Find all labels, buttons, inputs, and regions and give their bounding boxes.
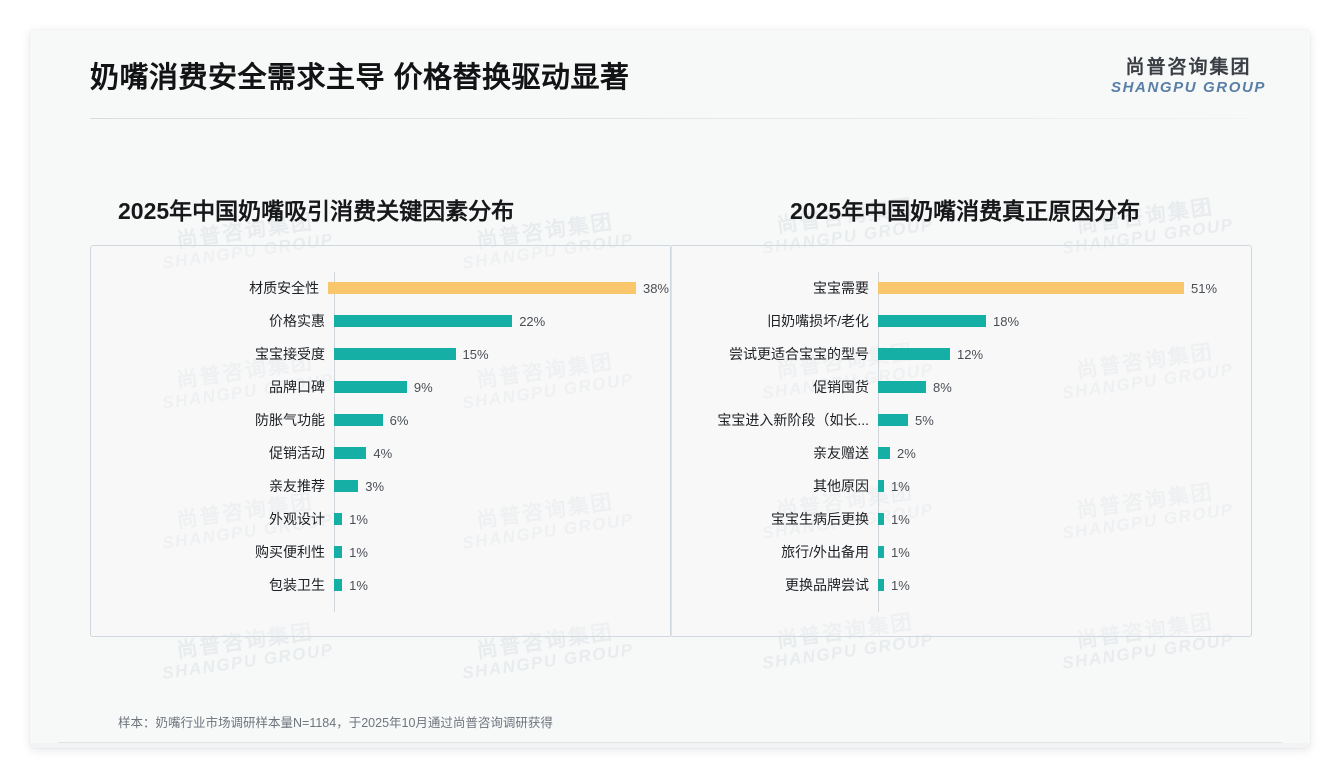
- chart-bar-track: 12%: [878, 342, 1249, 366]
- chart-bar-row[interactable]: 品牌口碑9%: [91, 375, 669, 399]
- chart-bar-track: 4%: [334, 441, 669, 465]
- chart-bar-row[interactable]: 其他原因1%: [671, 474, 1249, 498]
- chart-bar-row[interactable]: 包装卫生1%: [91, 573, 669, 597]
- chart-category-label: 购买便利性: [91, 542, 334, 562]
- watermark-english-text: SHANGPU GROUP: [761, 631, 935, 674]
- chart-bar-track: 51%: [878, 276, 1249, 300]
- chart-bar: [878, 579, 884, 591]
- logo-english-text: SHANGPU GROUP: [1111, 80, 1266, 96]
- chart-bar-row[interactable]: 防胀气功能6%: [91, 408, 669, 432]
- chart-value-label: 12%: [957, 347, 983, 362]
- chart-value-label: 5%: [915, 413, 934, 428]
- chart-category-label: 亲友赠送: [671, 443, 878, 463]
- logo-chinese-text: 尚普咨询集团: [1111, 58, 1266, 78]
- chart-bar-row[interactable]: 材质安全性38%: [91, 276, 669, 300]
- chart-bar: [878, 546, 884, 558]
- slide-header: 奶嘴消费安全需求主导 价格替换驱动显著 尚普咨询集团 SHANGPU GROUP: [30, 30, 1310, 118]
- chart-value-label: 1%: [891, 479, 910, 494]
- chart-bar-row[interactable]: 旧奶嘴损坏/老化18%: [671, 309, 1249, 333]
- chart-value-label: 3%: [365, 479, 384, 494]
- chart-bar-row[interactable]: 促销囤货8%: [671, 375, 1249, 399]
- chart-bar-row[interactable]: 外观设计1%: [91, 507, 669, 531]
- chart-value-label: 1%: [891, 545, 910, 560]
- chart-value-label: 9%: [414, 380, 433, 395]
- chart-bar: [328, 282, 636, 294]
- chart-category-label: 宝宝生病后更换: [671, 509, 878, 529]
- chart-category-label: 价格实惠: [91, 311, 334, 331]
- chart-bar: [878, 348, 950, 360]
- chart-bar-track: 9%: [334, 375, 669, 399]
- chart-value-label: 2%: [897, 446, 916, 461]
- chart-bar-row[interactable]: 旅行/外出备用1%: [671, 540, 1249, 564]
- brand-logo: 尚普咨询集团 SHANGPU GROUP: [1111, 58, 1266, 96]
- chart-value-label: 4%: [373, 446, 392, 461]
- chart-category-label: 亲友推荐: [91, 476, 334, 496]
- chart-bar-track: 1%: [334, 540, 669, 564]
- chart-bar: [334, 513, 342, 525]
- chart-bar-row[interactable]: 价格实惠22%: [91, 309, 669, 333]
- chart-value-label: 15%: [463, 347, 489, 362]
- chart-bar: [878, 282, 1184, 294]
- chart-category-label: 外观设计: [91, 509, 334, 529]
- chart-bar: [878, 447, 890, 459]
- chart-bar: [334, 447, 366, 459]
- chart-bar-track: 22%: [334, 309, 669, 333]
- right-chart-panel: 宝宝需要51%旧奶嘴损坏/老化18%尝试更适合宝宝的型号12%促销囤货8%宝宝进…: [670, 245, 1252, 637]
- chart-value-label: 22%: [519, 314, 545, 329]
- chart-bar: [334, 381, 407, 393]
- chart-bar: [878, 480, 884, 492]
- chart-bar-track: 38%: [328, 276, 669, 300]
- chart-value-label: 1%: [349, 545, 368, 560]
- header-divider: [90, 118, 1250, 119]
- chart-bar-track: 5%: [878, 408, 1249, 432]
- slide-footer: ©2025.12 SHANGPU GROUP www.shangpu-china…: [30, 743, 1310, 748]
- chart-bar-track: 1%: [878, 540, 1249, 564]
- chart-category-label: 包装卫生: [91, 575, 334, 595]
- watermark-english-text: SHANGPU GROUP: [461, 641, 635, 684]
- page-title: 奶嘴消费安全需求主导 价格替换驱动显著: [90, 54, 630, 96]
- chart-category-label: 宝宝需要: [671, 278, 878, 298]
- chart-bar-track: 1%: [334, 507, 669, 531]
- chart-bar-track: 1%: [334, 573, 669, 597]
- chart-bar-track: 6%: [334, 408, 669, 432]
- chart-category-label: 材质安全性: [91, 278, 328, 298]
- right-chart-title: 2025年中国奶嘴消费真正原因分布: [790, 192, 1140, 226]
- chart-bar-row[interactable]: 更换品牌尝试1%: [671, 573, 1249, 597]
- chart-category-label: 旧奶嘴损坏/老化: [671, 311, 878, 331]
- chart-category-label: 其他原因: [671, 476, 878, 496]
- chart-category-label: 宝宝进入新阶段（如长...: [671, 410, 878, 430]
- chart-bar: [334, 579, 342, 591]
- chart-value-label: 1%: [349, 512, 368, 527]
- slide-card: 奶嘴消费安全需求主导 价格替换驱动显著 尚普咨询集团 SHANGPU GROUP…: [30, 30, 1310, 748]
- chart-bar: [334, 414, 383, 426]
- sample-note: 样本：奶嘴行业市场调研样本量N=1184，于2025年10月通过尚普咨询调研获得: [118, 712, 553, 731]
- watermark-english-text: SHANGPU GROUP: [1061, 631, 1235, 674]
- chart-bar: [878, 381, 926, 393]
- chart-bar-row[interactable]: 亲友赠送2%: [671, 441, 1249, 465]
- left-chart-title: 2025年中国奶嘴吸引消费关键因素分布: [118, 192, 514, 226]
- chart-value-label: 1%: [349, 578, 368, 593]
- chart-category-label: 促销囤货: [671, 377, 878, 397]
- chart-value-label: 6%: [390, 413, 409, 428]
- chart-bar-track: 2%: [878, 441, 1249, 465]
- chart-category-label: 品牌口碑: [91, 377, 334, 397]
- chart-category-label: 尝试更适合宝宝的型号: [671, 344, 878, 364]
- chart-category-label: 旅行/外出备用: [671, 542, 878, 562]
- chart-bar-row[interactable]: 宝宝接受度15%: [91, 342, 669, 366]
- chart-bar: [334, 348, 456, 360]
- watermark-english-text: SHANGPU GROUP: [161, 641, 335, 684]
- chart-bar-row[interactable]: 尝试更适合宝宝的型号12%: [671, 342, 1249, 366]
- chart-value-label: 18%: [993, 314, 1019, 329]
- chart-bar: [878, 315, 986, 327]
- chart-value-label: 1%: [891, 578, 910, 593]
- chart-bar-track: 15%: [334, 342, 669, 366]
- chart-category-label: 更换品牌尝试: [671, 575, 878, 595]
- chart-value-label: 38%: [643, 281, 669, 296]
- chart-bar: [334, 315, 512, 327]
- chart-bar-row[interactable]: 宝宝进入新阶段（如长...5%: [671, 408, 1249, 432]
- chart-bar-track: 1%: [878, 474, 1249, 498]
- chart-bar-track: 1%: [878, 573, 1249, 597]
- chart-category-label: 防胀气功能: [91, 410, 334, 430]
- chart-bar: [878, 414, 908, 426]
- chart-bar-row[interactable]: 促销活动4%: [91, 441, 669, 465]
- chart-bar-row[interactable]: 宝宝需要51%: [671, 276, 1249, 300]
- chart-category-label: 宝宝接受度: [91, 344, 334, 364]
- chart-value-label: 8%: [933, 380, 952, 395]
- chart-bar-track: 1%: [878, 507, 1249, 531]
- chart-bar-row[interactable]: 宝宝生病后更换1%: [671, 507, 1249, 531]
- chart-value-label: 1%: [891, 512, 910, 527]
- left-chart-panel: 材质安全性38%价格实惠22%宝宝接受度15%品牌口碑9%防胀气功能6%促销活动…: [90, 245, 672, 637]
- chart-bar-row[interactable]: 购买便利性1%: [91, 540, 669, 564]
- chart-bar-track: 18%: [878, 309, 1249, 333]
- chart-bar: [334, 480, 358, 492]
- chart-value-label: 51%: [1191, 281, 1217, 296]
- chart-bar-track: 3%: [334, 474, 669, 498]
- chart-bar: [334, 546, 342, 558]
- chart-bar-row[interactable]: 亲友推荐3%: [91, 474, 669, 498]
- chart-bar: [878, 513, 884, 525]
- chart-bar-track: 8%: [878, 375, 1249, 399]
- chart-category-label: 促销活动: [91, 443, 334, 463]
